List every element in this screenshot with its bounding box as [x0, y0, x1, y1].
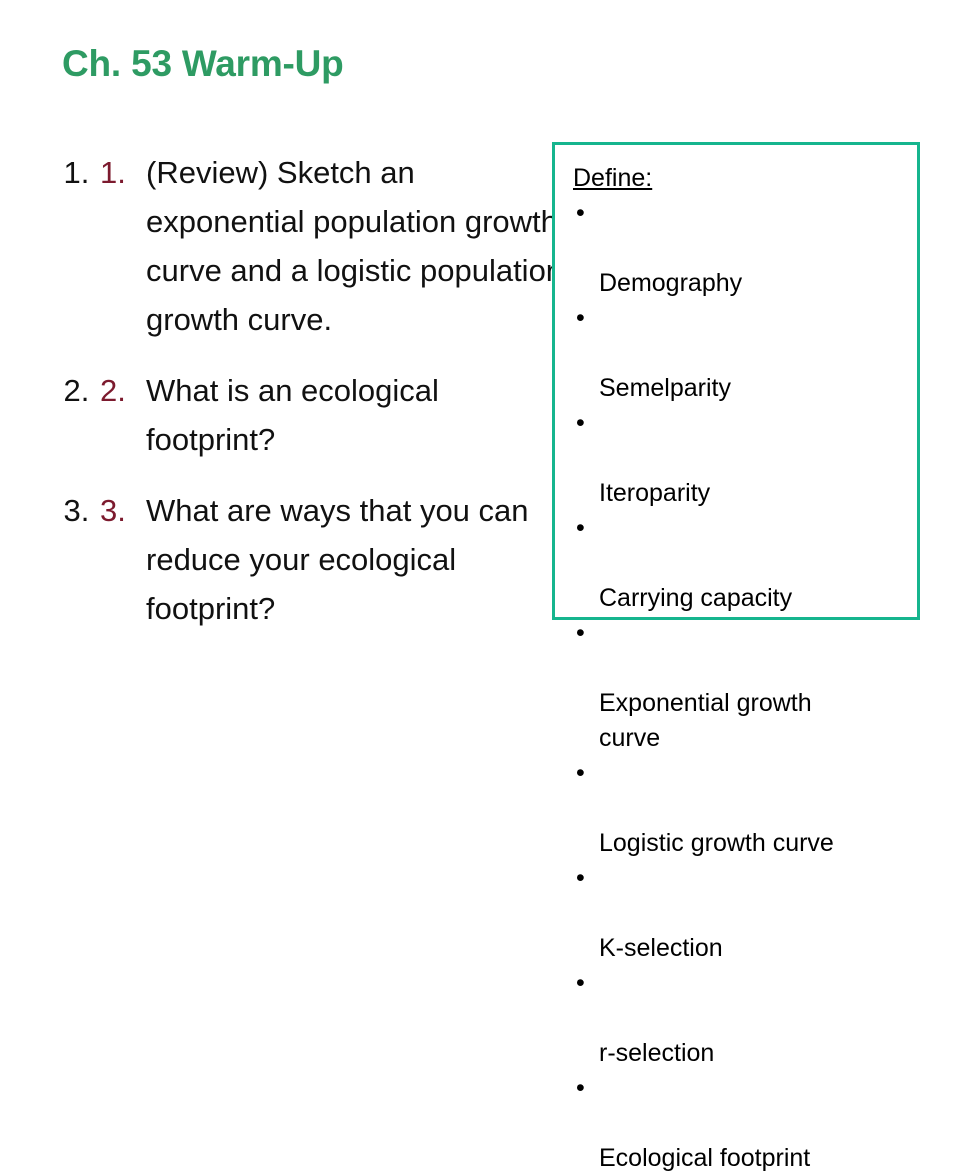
list-item: • Iteroparity: [573, 406, 917, 511]
bullet-icon: •: [576, 861, 585, 896]
define-box-content: Define: • Demography • Semelparity • Ite…: [555, 145, 917, 1176]
question-text-2: What is an ecological footprint?: [146, 366, 568, 464]
list-item: • Carrying capacity: [573, 511, 917, 616]
bullet-icon: •: [576, 616, 585, 651]
warm-up-question-list: 1. (Review) Sketch an exponential popula…: [58, 148, 568, 633]
list-item: • Demography: [573, 196, 917, 301]
define-heading: Define:: [573, 161, 652, 196]
define-term-label: Logistic growth curve: [599, 829, 834, 857]
slide-canvas: Ch. 53 Warm-Up 1. (Review) Sketch an exp…: [0, 0, 960, 720]
bullet-icon: •: [576, 966, 585, 1001]
question-number-3: 3.: [100, 486, 140, 535]
question-number-2: 2.: [100, 366, 140, 415]
list-item: • Exponential growth curve: [573, 616, 917, 756]
question-text-1: (Review) Sketch an exponential populatio…: [146, 148, 568, 344]
list-item: • Ecological footprint: [573, 1071, 917, 1176]
list-item: • r-selection: [573, 966, 917, 1071]
question-item-1: 1. (Review) Sketch an exponential popula…: [98, 148, 568, 344]
define-term-label: Exponential growth curve: [599, 689, 812, 752]
bullet-icon: •: [576, 406, 585, 441]
list-item: • K-selection: [573, 861, 917, 966]
list-item: • Semelparity: [573, 301, 917, 406]
define-term-label: Carrying capacity: [599, 584, 792, 612]
question-item-3: 3. What are ways that you can reduce you…: [98, 486, 568, 633]
bullet-icon: •: [576, 511, 585, 546]
define-term-label: K-selection: [599, 934, 723, 962]
list-item: • Logistic growth curve: [573, 756, 917, 861]
define-term-label: Ecological footprint: [599, 1144, 810, 1172]
question-item-2: 2. What is an ecological footprint?: [98, 366, 568, 464]
define-term-label: Demography: [599, 269, 742, 297]
question-number-1: 1.: [100, 148, 140, 197]
bullet-icon: •: [576, 301, 585, 336]
bullet-icon: •: [576, 756, 585, 791]
define-term-label: Iteroparity: [599, 479, 710, 507]
question-text-3: What are ways that you can reduce your e…: [146, 486, 568, 633]
bullet-icon: •: [576, 196, 585, 231]
bullet-icon: •: [576, 1071, 585, 1106]
define-term-label: r-selection: [599, 1039, 714, 1067]
page-title: Ch. 53 Warm-Up: [62, 44, 344, 85]
define-terms-box: Define: • Demography • Semelparity • Ite…: [552, 142, 920, 620]
define-term-list: • Demography • Semelparity • Iteroparity…: [573, 196, 917, 1176]
define-term-label: Semelparity: [599, 374, 731, 402]
